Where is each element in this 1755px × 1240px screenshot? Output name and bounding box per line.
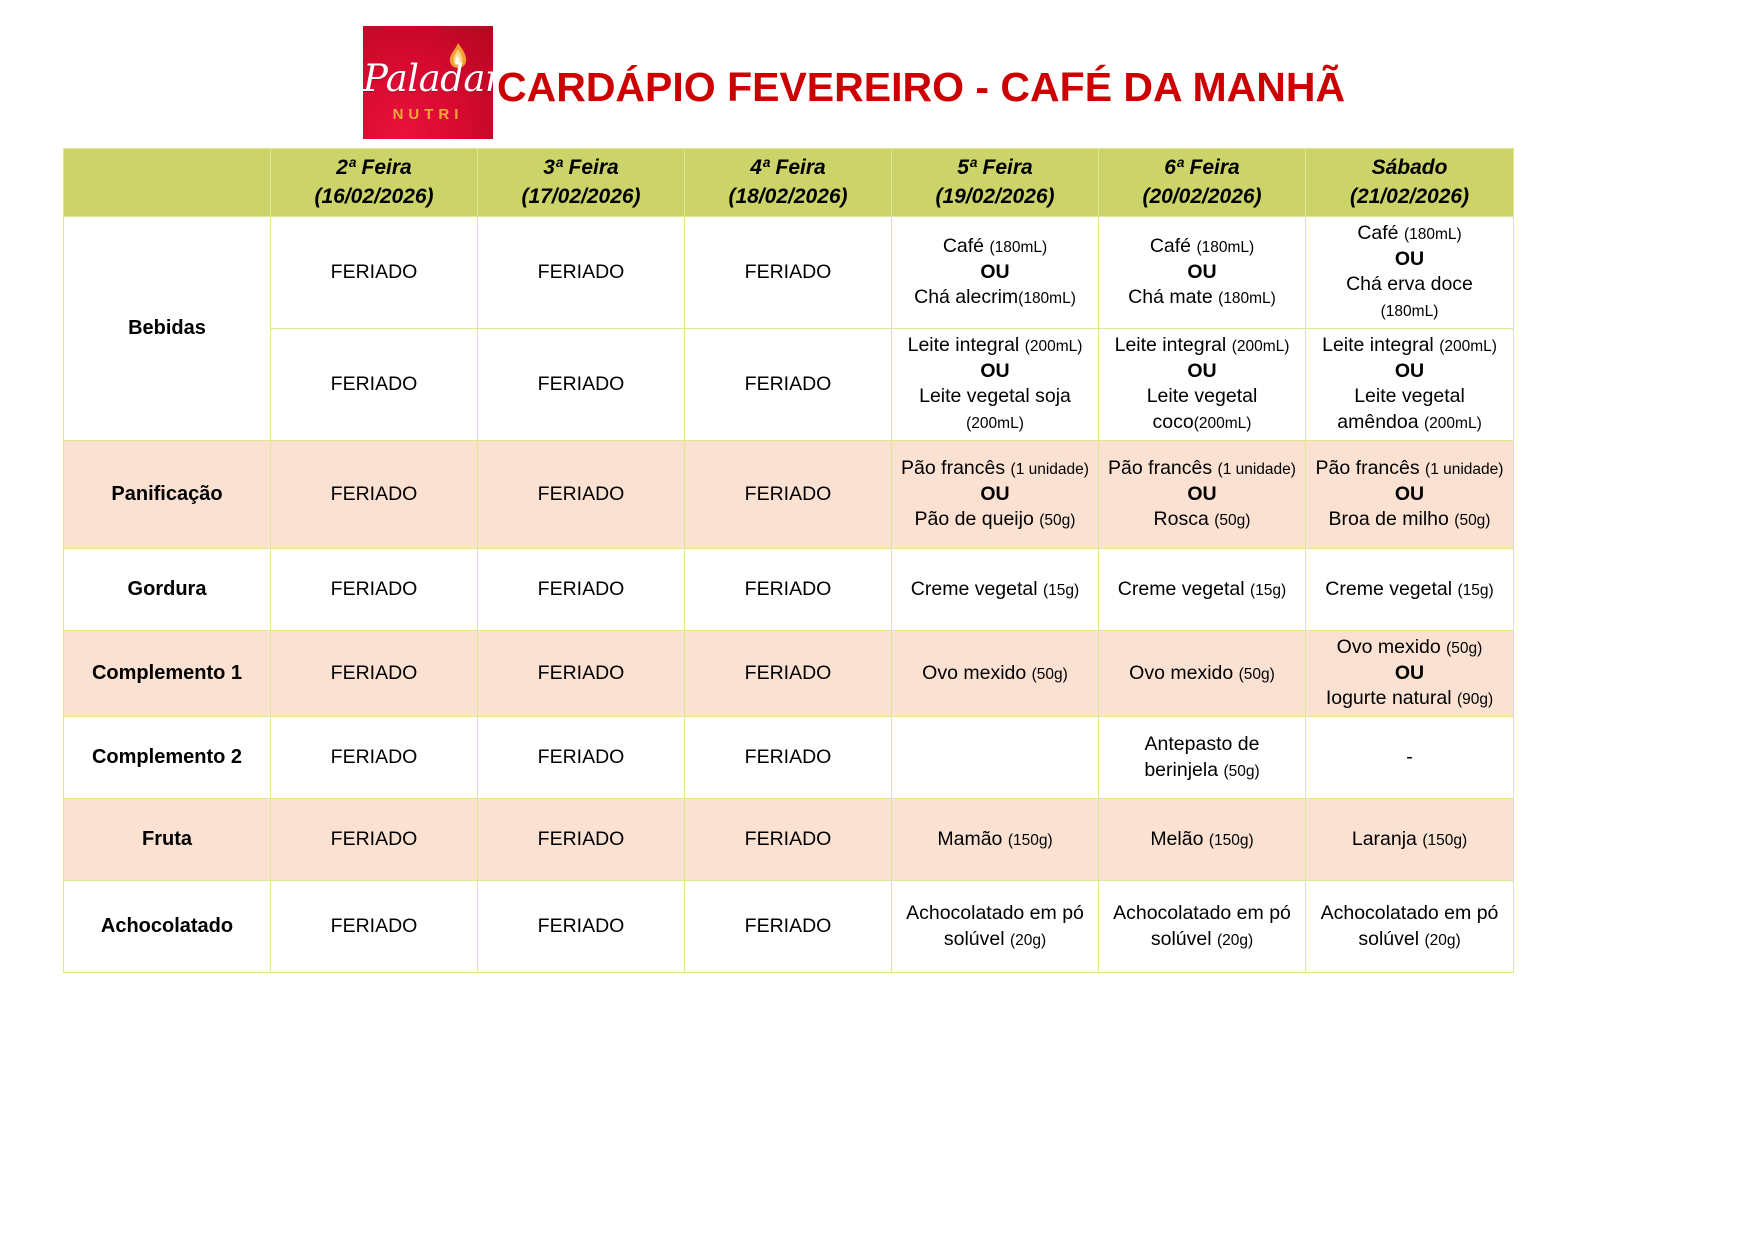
- menu-item-line: Pão francês (1 unidade): [898, 456, 1092, 482]
- portion-amount: (200mL): [1424, 415, 1482, 432]
- portion-amount: (180mL): [1218, 290, 1276, 307]
- cell-achocolatado-tuesday: FERIADO: [478, 881, 685, 973]
- cell-complemento2-thursday: [892, 717, 1099, 799]
- menu-item-line: berinjela (50g): [1105, 758, 1299, 784]
- header-day-name: Sábado: [1312, 154, 1507, 182]
- cell-achocolatado-thursday: Achocolatado em pósolúvel (20g): [892, 881, 1099, 973]
- portion-amount: (180mL): [1381, 303, 1439, 320]
- header-day-date: (19/02/2026): [898, 183, 1092, 211]
- portion-amount: (180mL): [1018, 290, 1076, 307]
- menu-item-line: FERIADO: [277, 372, 471, 398]
- portion-amount: (150g): [1008, 832, 1053, 849]
- table-row-achocolatado: Achocolatado FERIADO FERIADO FERIADO Ach…: [64, 881, 1514, 973]
- alternative-separator: OU: [1312, 359, 1507, 385]
- page-header: Paladar NUTRI CARDÁPIO FEVEREIRO - CAFÉ …: [0, 0, 1755, 140]
- menu-item-line: solúvel (20g): [898, 927, 1092, 953]
- table-row-bebidas-b: FERIADO FERIADO FERIADO Leite integral (…: [64, 328, 1514, 440]
- table-row-gordura: Gordura FERIADO FERIADO FERIADO Creme ve…: [64, 548, 1514, 630]
- menu-item-line: Leite integral (200mL): [898, 333, 1092, 359]
- cell-fruta-wednesday: FERIADO: [685, 799, 892, 881]
- table-row-fruta: Fruta FERIADO FERIADO FERIADO Mamão (150…: [64, 799, 1514, 881]
- cell-complemento2-monday: FERIADO: [271, 717, 478, 799]
- menu-item-line: FERIADO: [484, 914, 678, 940]
- menu-item-line: Leite vegetal: [1312, 384, 1507, 410]
- header-corner: [64, 149, 271, 217]
- menu-item-line: Achocolatado em pó: [1105, 901, 1299, 927]
- portion-amount: (180mL): [1196, 239, 1254, 256]
- cell-bebidas-b-saturday: Leite integral (200mL)OULeite vegetalamê…: [1306, 328, 1514, 440]
- header-col-thursday: 5ª Feira (19/02/2026): [892, 149, 1099, 217]
- table-row-complemento2: Complemento 2 FERIADO FERIADO FERIADO An…: [64, 717, 1514, 799]
- portion-amount: (150g): [1422, 832, 1467, 849]
- cell-bebidas-b-tuesday: FERIADO: [478, 328, 685, 440]
- header-col-friday: 6ª Feira (20/02/2026): [1099, 149, 1306, 217]
- menu-item-line: Rosca (50g): [1105, 507, 1299, 533]
- menu-item-line: FERIADO: [691, 745, 885, 771]
- row-label-complemento1: Complemento 1: [64, 630, 271, 716]
- cell-bebidas-b-thursday: Leite integral (200mL)OULeite vegetal so…: [892, 328, 1099, 440]
- header-day-date: (17/02/2026): [484, 183, 678, 211]
- header-day-name: 2ª Feira: [277, 154, 471, 182]
- portion-amount: (200mL): [1194, 415, 1252, 432]
- cell-bebidas-b-monday: FERIADO: [271, 328, 478, 440]
- menu-item-line: Pão francês (1 unidade): [1105, 456, 1299, 482]
- menu-item-line: Pão francês (1 unidade): [1312, 456, 1507, 482]
- cell-complemento2-saturday: -: [1306, 717, 1514, 799]
- cell-gordura-wednesday: FERIADO: [685, 548, 892, 630]
- row-label-bebidas: Bebidas: [64, 217, 271, 441]
- menu-item-line: FERIADO: [691, 577, 885, 603]
- cell-bebidas-a-thursday: Café (180mL)OUChá alecrim(180mL): [892, 217, 1099, 329]
- portion-amount: (180mL): [989, 239, 1047, 256]
- menu-item-line: Café (180mL): [1105, 234, 1299, 260]
- cell-bebidas-a-saturday: Café (180mL)OUChá erva doce(180mL): [1306, 217, 1514, 329]
- alternative-separator: OU: [898, 482, 1092, 508]
- cell-complemento1-tuesday: FERIADO: [478, 630, 685, 716]
- cell-complemento1-thursday: Ovo mexido (50g): [892, 630, 1099, 716]
- header-col-wednesday: 4ª Feira (18/02/2026): [685, 149, 892, 217]
- cell-panificacao-wednesday: FERIADO: [685, 440, 892, 548]
- cell-panificacao-monday: FERIADO: [271, 440, 478, 548]
- menu-item-line: FERIADO: [277, 914, 471, 940]
- cell-bebidas-a-monday: FERIADO: [271, 217, 478, 329]
- menu-item-line: FERIADO: [484, 372, 678, 398]
- alternative-separator: OU: [1105, 260, 1299, 286]
- header-day-date: (16/02/2026): [277, 183, 471, 211]
- menu-item-line: Creme vegetal (15g): [1312, 577, 1507, 603]
- portion-amount: (50g): [1223, 763, 1259, 780]
- menu-item-line: Antepasto de: [1105, 732, 1299, 758]
- portion-amount: (200mL): [1232, 338, 1290, 355]
- cell-panificacao-friday: Pão francês (1 unidade)OURosca (50g): [1099, 440, 1306, 548]
- header-day-name: 4ª Feira: [691, 154, 885, 182]
- portion-amount: (50g): [1214, 512, 1250, 529]
- portion-amount: (20g): [1217, 932, 1253, 949]
- row-label-complemento2: Complemento 2: [64, 717, 271, 799]
- portion-amount: (50g): [1039, 512, 1075, 529]
- cell-bebidas-a-tuesday: FERIADO: [478, 217, 685, 329]
- menu-item-line: FERIADO: [691, 827, 885, 853]
- alternative-separator: OU: [1105, 359, 1299, 385]
- cell-complemento2-friday: Antepasto deberinjela (50g): [1099, 717, 1306, 799]
- menu-item-line: (200mL): [898, 410, 1092, 436]
- header-day-name: 3ª Feira: [484, 154, 678, 182]
- cell-bebidas-b-wednesday: FERIADO: [685, 328, 892, 440]
- header-col-monday: 2ª Feira (16/02/2026): [271, 149, 478, 217]
- menu-item-line: FERIADO: [484, 482, 678, 508]
- cell-achocolatado-friday: Achocolatado em pósolúvel (20g): [1099, 881, 1306, 973]
- menu-item-line: Iogurte natural (90g): [1312, 686, 1507, 712]
- portion-amount: (1 unidade): [1425, 461, 1503, 478]
- menu-item-line: amêndoa (200mL): [1312, 410, 1507, 436]
- cell-gordura-tuesday: FERIADO: [478, 548, 685, 630]
- alternative-separator: OU: [898, 359, 1092, 385]
- portion-amount: (1 unidade): [1218, 461, 1296, 478]
- alternative-separator: OU: [1312, 482, 1507, 508]
- portion-amount: (15g): [1043, 582, 1079, 599]
- menu-item-line: Broa de milho (50g): [1312, 507, 1507, 533]
- menu-item-line: Pão de queijo (50g): [898, 507, 1092, 533]
- portion-amount: (1 unidade): [1011, 461, 1089, 478]
- menu-item-line: FERIADO: [484, 661, 678, 687]
- menu-item-line: Ovo mexido (50g): [1312, 635, 1507, 661]
- table-row-complemento1: Complemento 1 FERIADO FERIADO FERIADO Ov…: [64, 630, 1514, 716]
- cell-fruta-friday: Melão (150g): [1099, 799, 1306, 881]
- menu-item-line: Chá erva doce: [1312, 272, 1507, 298]
- cell-fruta-monday: FERIADO: [271, 799, 478, 881]
- menu-item-line: Laranja (150g): [1312, 827, 1507, 853]
- menu-item-line: FERIADO: [484, 260, 678, 286]
- cell-panificacao-saturday: Pão francês (1 unidade)OUBroa de milho (…: [1306, 440, 1514, 548]
- header-col-saturday: Sábado (21/02/2026): [1306, 149, 1514, 217]
- menu-item-line: FERIADO: [691, 661, 885, 687]
- menu-item-line: FERIADO: [484, 827, 678, 853]
- cell-complemento1-wednesday: FERIADO: [685, 630, 892, 716]
- cell-complemento1-monday: FERIADO: [271, 630, 478, 716]
- portion-amount: (180mL): [1404, 226, 1462, 243]
- cell-achocolatado-monday: FERIADO: [271, 881, 478, 973]
- portion-amount: (50g): [1239, 666, 1275, 683]
- menu-item-line: FERIADO: [277, 661, 471, 687]
- header-col-tuesday: 3ª Feira (17/02/2026): [478, 149, 685, 217]
- cell-panificacao-thursday: Pão francês (1 unidade)OUPão de queijo (…: [892, 440, 1099, 548]
- breakfast-menu-table: 2ª Feira (16/02/2026) 3ª Feira (17/02/20…: [63, 148, 1514, 973]
- menu-item-line: FERIADO: [484, 745, 678, 771]
- menu-item-line: solúvel (20g): [1105, 927, 1299, 953]
- row-label-achocolatado: Achocolatado: [64, 881, 271, 973]
- table-row-bebidas-a: Bebidas FERIADO FERIADO FERIADO Café (18…: [64, 217, 1514, 329]
- portion-amount: (50g): [1446, 640, 1482, 657]
- menu-item-line: FERIADO: [277, 745, 471, 771]
- menu-item-line: FERIADO: [691, 914, 885, 940]
- alternative-separator: OU: [1312, 247, 1507, 273]
- menu-item-line: Achocolatado em pó: [898, 901, 1092, 927]
- menu-item-line: Creme vegetal (15g): [1105, 577, 1299, 603]
- cell-bebidas-a-wednesday: FERIADO: [685, 217, 892, 329]
- portion-amount: (15g): [1458, 582, 1494, 599]
- cell-complemento2-wednesday: FERIADO: [685, 717, 892, 799]
- menu-item-line: Chá alecrim(180mL): [898, 285, 1092, 311]
- page-title: CARDÁPIO FEVEREIRO - CAFÉ DA MANHÃ: [497, 64, 1345, 111]
- row-label-fruta: Fruta: [64, 799, 271, 881]
- menu-item-line: FERIADO: [277, 827, 471, 853]
- portion-amount: (90g): [1457, 691, 1493, 708]
- logo-wordmark: Paladar: [363, 60, 493, 97]
- cell-achocolatado-wednesday: FERIADO: [685, 881, 892, 973]
- alternative-separator: OU: [1105, 482, 1299, 508]
- portion-amount: (50g): [1032, 666, 1068, 683]
- cell-fruta-tuesday: FERIADO: [478, 799, 685, 881]
- header-day-name: 6ª Feira: [1105, 154, 1299, 182]
- menu-item-line: Café (180mL): [1312, 221, 1507, 247]
- header-day-date: (18/02/2026): [691, 183, 885, 211]
- portion-amount: (200mL): [1439, 338, 1497, 355]
- menu-item-line: (180mL): [1312, 298, 1507, 324]
- alternative-separator: OU: [898, 260, 1092, 286]
- portion-amount: (20g): [1010, 932, 1046, 949]
- menu-page: Paladar NUTRI CARDÁPIO FEVEREIRO - CAFÉ …: [0, 0, 1755, 1240]
- header-day-date: (21/02/2026): [1312, 183, 1507, 211]
- menu-item-line: Chá mate (180mL): [1105, 285, 1299, 311]
- cell-gordura-friday: Creme vegetal (15g): [1099, 548, 1306, 630]
- menu-item-line: Achocolatado em pó: [1312, 901, 1507, 927]
- portion-amount: (20g): [1424, 932, 1460, 949]
- cell-complemento2-tuesday: FERIADO: [478, 717, 685, 799]
- cell-panificacao-tuesday: FERIADO: [478, 440, 685, 548]
- menu-item-line: Leite integral (200mL): [1312, 333, 1507, 359]
- row-label-panificacao: Panificação: [64, 440, 271, 548]
- cell-fruta-saturday: Laranja (150g): [1306, 799, 1514, 881]
- menu-item-line: Creme vegetal (15g): [898, 577, 1092, 603]
- cell-bebidas-b-friday: Leite integral (200mL)OULeite vegetalcoc…: [1099, 328, 1306, 440]
- logo-subtitle: NUTRI: [363, 106, 493, 123]
- cell-gordura-monday: FERIADO: [271, 548, 478, 630]
- cell-complemento1-saturday: Ovo mexido (50g)OUIogurte natural (90g): [1306, 630, 1514, 716]
- portion-amount: (200mL): [966, 415, 1024, 432]
- brand-logo: Paladar NUTRI: [363, 26, 493, 139]
- alternative-separator: OU: [1312, 661, 1507, 687]
- menu-item-line: Leite vegetal: [1105, 384, 1299, 410]
- menu-item-line: FERIADO: [691, 260, 885, 286]
- menu-item-line: -: [1312, 745, 1507, 771]
- menu-item-line: Ovo mexido (50g): [1105, 661, 1299, 687]
- menu-item-line: FERIADO: [277, 260, 471, 286]
- menu-item-line: FERIADO: [691, 372, 885, 398]
- table-row-panificacao: Panificação FERIADO FERIADO FERIADO Pão …: [64, 440, 1514, 548]
- portion-amount: (150g): [1209, 832, 1254, 849]
- menu-item-line: Mamão (150g): [898, 827, 1092, 853]
- portion-amount: (200mL): [1025, 338, 1083, 355]
- cell-complemento1-friday: Ovo mexido (50g): [1099, 630, 1306, 716]
- table-header-row: 2ª Feira (16/02/2026) 3ª Feira (17/02/20…: [64, 149, 1514, 217]
- menu-item-line: FERIADO: [277, 482, 471, 508]
- menu-item-line: FERIADO: [277, 577, 471, 603]
- portion-amount: (50g): [1454, 512, 1490, 529]
- cell-gordura-thursday: Creme vegetal (15g): [892, 548, 1099, 630]
- row-label-gordura: Gordura: [64, 548, 271, 630]
- cell-gordura-saturday: Creme vegetal (15g): [1306, 548, 1514, 630]
- cell-achocolatado-saturday: Achocolatado em pósolúvel (20g): [1306, 881, 1514, 973]
- portion-amount: (15g): [1250, 582, 1286, 599]
- menu-item-line: FERIADO: [691, 482, 885, 508]
- menu-item-line: solúvel (20g): [1312, 927, 1507, 953]
- menu-item-line: Café (180mL): [898, 234, 1092, 260]
- menu-item-line: FERIADO: [484, 577, 678, 603]
- menu-item-line: Ovo mexido (50g): [898, 661, 1092, 687]
- menu-item-line: Leite vegetal soja: [898, 384, 1092, 410]
- menu-item-line: Melão (150g): [1105, 827, 1299, 853]
- menu-item-line: Leite integral (200mL): [1105, 333, 1299, 359]
- menu-item-line: coco(200mL): [1105, 410, 1299, 436]
- header-day-name: 5ª Feira: [898, 154, 1092, 182]
- cell-fruta-thursday: Mamão (150g): [892, 799, 1099, 881]
- cell-bebidas-a-friday: Café (180mL)OUChá mate (180mL): [1099, 217, 1306, 329]
- header-day-date: (20/02/2026): [1105, 183, 1299, 211]
